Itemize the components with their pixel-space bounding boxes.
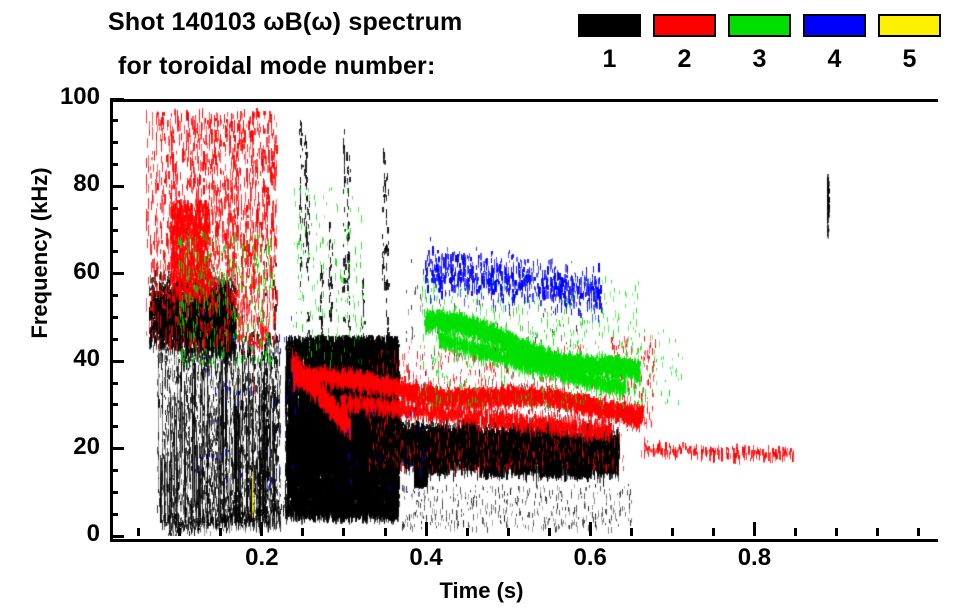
- x-tick-major: [589, 522, 592, 536]
- x-tick-minor: [137, 528, 140, 536]
- page-title: Shot 140103 ωB(ω) spectrum: [108, 8, 462, 37]
- legend-swatch-5: [878, 14, 941, 37]
- x-tick-label: 0.8: [709, 544, 799, 572]
- x-tick-minor: [301, 528, 304, 536]
- y-tick-minor: [110, 119, 118, 122]
- y-tick-minor: [110, 425, 118, 428]
- y-tick-label: 20: [16, 433, 100, 461]
- legend-label-5: 5: [878, 47, 941, 72]
- y-tick-major: [110, 272, 124, 275]
- y-tick-minor: [110, 250, 118, 253]
- x-tick-minor: [794, 528, 797, 536]
- y-tick-label: 60: [16, 258, 100, 286]
- title-text: Shot 140103 ωB(ω) spectrum: [108, 8, 462, 36]
- spectrogram-figure: Shot 140103 ωB(ω) spectrum for toroidal …: [0, 0, 963, 615]
- y-tick-minor: [110, 491, 118, 494]
- legend: 12345: [578, 14, 948, 90]
- y-tick-label: 0: [16, 520, 100, 548]
- y-tick-major: [110, 360, 124, 363]
- legend-caption: for toroidal mode number:: [118, 52, 436, 81]
- y-tick-minor: [110, 403, 118, 406]
- x-tick-label: 0.4: [381, 544, 471, 572]
- legend-label-1: 1: [578, 47, 641, 72]
- legend-caption-text: for toroidal mode number:: [118, 52, 436, 80]
- x-tick-minor: [630, 528, 633, 536]
- y-tick-minor: [110, 294, 118, 297]
- y-tick-minor: [110, 229, 118, 232]
- x-axis-title-text: Time (s): [440, 578, 524, 603]
- y-tick-minor: [110, 382, 118, 385]
- y-tick-minor: [110, 513, 118, 516]
- x-tick-minor: [835, 528, 838, 536]
- x-tick-label: 0.6: [545, 544, 635, 572]
- x-tick-label: 0.2: [217, 544, 307, 572]
- y-tick-minor: [110, 141, 118, 144]
- legend-label-4: 4: [803, 47, 866, 72]
- y-tick-major: [110, 447, 124, 450]
- y-tick-minor: [110, 316, 118, 319]
- legend-item-1[interactable]: 1: [578, 14, 641, 72]
- legend-item-2[interactable]: 2: [653, 14, 716, 72]
- legend-label-2: 2: [653, 47, 716, 72]
- x-tick-minor: [219, 528, 222, 536]
- y-tick-major: [110, 535, 124, 538]
- x-tick-minor: [178, 528, 181, 536]
- x-tick-minor: [466, 528, 469, 536]
- y-tick-minor: [110, 207, 118, 210]
- y-tick-minor: [110, 469, 118, 472]
- x-tick-minor: [712, 528, 715, 536]
- legend-item-3[interactable]: 3: [728, 14, 791, 72]
- x-tick-minor: [917, 528, 920, 536]
- x-tick-major: [260, 522, 263, 536]
- y-tick-minor: [110, 338, 118, 341]
- plot-frame: [110, 99, 938, 542]
- x-tick-minor: [548, 528, 551, 536]
- x-tick-minor: [507, 528, 510, 536]
- x-tick-major: [753, 522, 756, 536]
- y-tick-label: 40: [16, 345, 100, 373]
- legend-item-5[interactable]: 5: [878, 14, 941, 72]
- y-tick-major: [110, 185, 124, 188]
- y-tick-major: [110, 98, 124, 101]
- x-axis-title: Time (s): [0, 578, 963, 604]
- legend-swatch-1: [578, 14, 641, 37]
- legend-swatch-2: [653, 14, 716, 37]
- x-tick-minor: [671, 528, 674, 536]
- legend-swatch-4: [803, 14, 866, 37]
- y-tick-label: 80: [16, 170, 100, 198]
- x-tick-minor: [876, 528, 879, 536]
- x-tick-minor: [384, 528, 387, 536]
- y-tick-minor: [110, 163, 118, 166]
- legend-item-4[interactable]: 4: [803, 14, 866, 72]
- legend-label-3: 3: [728, 47, 791, 72]
- y-tick-label: 100: [16, 83, 100, 111]
- legend-swatch-3: [728, 14, 791, 37]
- x-tick-major: [425, 522, 428, 536]
- x-tick-minor: [342, 528, 345, 536]
